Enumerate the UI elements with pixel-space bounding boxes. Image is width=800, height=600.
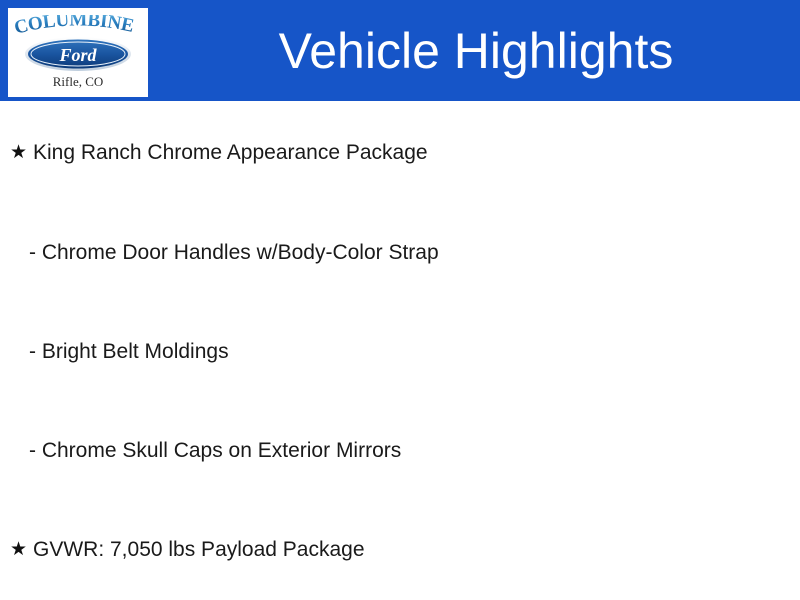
columbine-arched-text-icon: COLUMBINE bbox=[12, 15, 144, 37]
list-item: - Bright Belt Moldings bbox=[0, 336, 800, 368]
header-band: COLUMBINE bbox=[0, 0, 800, 101]
list-item-label: - Chrome Door Handles w/Body-Color Strap bbox=[29, 240, 439, 266]
logo-inner: COLUMBINE bbox=[8, 8, 148, 97]
star-bullet-icon: ★ bbox=[0, 538, 24, 562]
svg-text:COLUMBINE: COLUMBINE bbox=[12, 15, 135, 37]
dealer-logo[interactable]: COLUMBINE bbox=[8, 8, 148, 97]
list-item-label: GVWR: 7,050 lbs Payload Package bbox=[24, 537, 365, 563]
star-bullet-icon: ★ bbox=[0, 141, 24, 165]
page-title: Vehicle Highlights bbox=[160, 16, 792, 86]
list-item: - Chrome Skull Caps on Exterior Mirrors bbox=[0, 435, 800, 467]
list-item: ★ King Ranch Chrome Appearance Package bbox=[0, 137, 800, 169]
list-item-label: King Ranch Chrome Appearance Package bbox=[24, 140, 428, 166]
logo-city-label: Rifle, CO bbox=[8, 74, 148, 90]
logo-dealer-name: COLUMBINE bbox=[8, 15, 148, 37]
list-item: - Chrome Door Handles w/Body-Color Strap bbox=[0, 237, 800, 269]
list-item-label: - Bright Belt Moldings bbox=[29, 339, 229, 365]
list-item-label: - Chrome Skull Caps on Exterior Mirrors bbox=[29, 438, 401, 464]
ford-oval-logo-icon: Ford bbox=[24, 36, 132, 72]
highlights-list: ★ King Ranch Chrome Appearance Package -… bbox=[0, 101, 800, 600]
list-item: ★ GVWR: 7,050 lbs Payload Package bbox=[0, 534, 800, 566]
svg-text:Ford: Ford bbox=[58, 45, 97, 65]
